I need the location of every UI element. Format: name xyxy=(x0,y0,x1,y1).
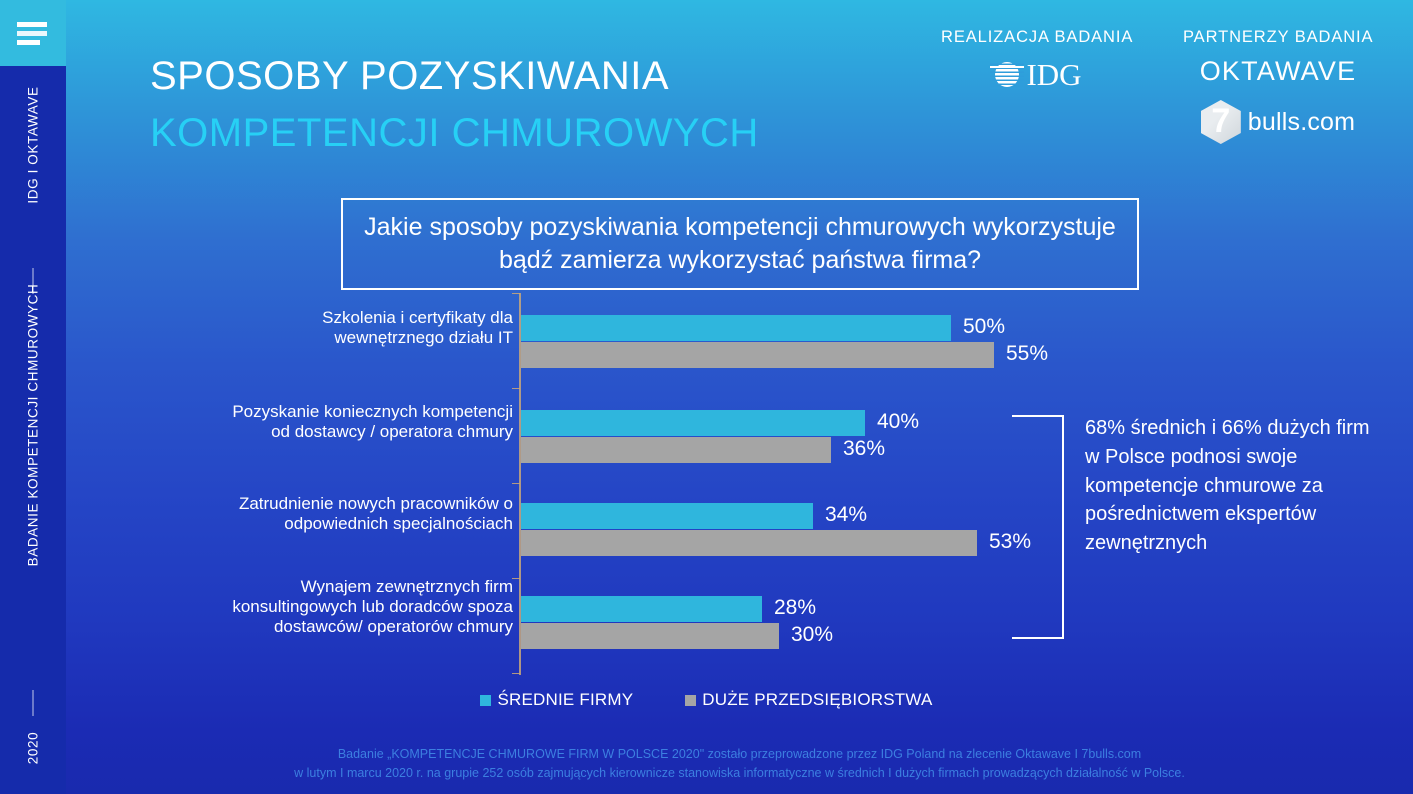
footer-line-2: w lutym I marcu 2020 r. na grupie 252 os… xyxy=(66,764,1413,783)
bar-value-medium-0: 50% xyxy=(963,314,1005,340)
bar-value-large-1: 36% xyxy=(843,436,885,462)
bar-medium-3 xyxy=(521,596,762,622)
realizacja-badania-block: REALIZACJA BADANIA IDG xyxy=(941,28,1131,90)
legend-swatch-medium xyxy=(480,695,491,706)
bar-medium-0 xyxy=(521,315,951,341)
callout-annotation-text: 68% średnich i 66% dużych firm w Polsce … xyxy=(1085,414,1385,558)
realizacja-badania-caption: REALIZACJA BADANIA xyxy=(941,28,1131,47)
bar-value-medium-2: 34% xyxy=(825,502,867,528)
bar-large-1 xyxy=(521,437,831,463)
question-box: Jakie sposoby pozyskiwania kompetencji c… xyxy=(341,198,1139,290)
axis-tick-4 xyxy=(512,673,520,674)
category-label-3: Wynajem zewnętrznych firm konsultingowyc… xyxy=(215,577,513,637)
idg-wordmark: IDG xyxy=(1026,59,1081,90)
page-title: SPOSOBY POZYSKIWANIA KOMPETENCJI CHMUROW… xyxy=(150,55,759,155)
axis-tick-0 xyxy=(512,293,520,294)
bar-large-2 xyxy=(521,530,977,556)
bar-value-large-3: 30% xyxy=(791,622,833,648)
oktawave-logo: OKTAWAVE xyxy=(1183,58,1373,85)
sevenbulls-wordmark: bulls.com xyxy=(1248,108,1355,137)
bar-value-medium-3: 28% xyxy=(774,595,816,621)
category-label-0: Szkolenia i certyfikaty dla wewnętrznego… xyxy=(215,308,513,348)
idg-logo: IDG xyxy=(941,59,1131,90)
page-title-line-1: SPOSOBY POZYSKIWANIA xyxy=(150,55,759,98)
category-labels: Szkolenia i certyfikaty dla wewnętrznego… xyxy=(215,290,513,680)
bar-value-large-0: 55% xyxy=(1006,341,1048,367)
legend-label-large: DUŻE PRZEDSIĘBIORSTWA xyxy=(702,690,932,710)
axis-tick-3 xyxy=(512,578,520,579)
legend-item-large[interactable]: DUŻE PRZEDSIĘBIORSTWA xyxy=(685,690,932,710)
idg-globe-icon xyxy=(990,61,1024,89)
rail-brand-label: IDG I OKTAWAVE xyxy=(26,86,41,203)
page-title-line-2: KOMPETENCJI CHMUROWYCH xyxy=(150,112,759,155)
chart-legend: ŚREDNIE FIRMY DUŻE PRZEDSIĘBIORSTWA xyxy=(0,690,1413,710)
menu-button[interactable] xyxy=(0,0,66,66)
category-label-2: Zatrudnienie nowych pracowników o odpowi… xyxy=(215,494,513,534)
partnerzy-badania-block: PARTNERZY BADANIA OKTAWAVE bulls.com xyxy=(1183,28,1373,144)
axis-tick-1 xyxy=(512,388,520,389)
bar-large-3 xyxy=(521,623,779,649)
bar-large-0 xyxy=(521,342,994,368)
bar-medium-1 xyxy=(521,410,865,436)
hamburger-icon[interactable] xyxy=(17,22,51,45)
rail-year-label: 2020 xyxy=(26,732,41,764)
axis-tick-2 xyxy=(512,483,520,484)
footer-note: Badanie „KOMPETENCJE CHMUROWE FIRM W POL… xyxy=(66,745,1413,783)
legend-swatch-large xyxy=(685,695,696,706)
bar-medium-2 xyxy=(521,503,813,529)
sevenbulls-hex-icon xyxy=(1201,100,1241,144)
callout-bracket xyxy=(1004,415,1064,639)
question-text: Jakie sposoby pozyskiwania kompetencji c… xyxy=(343,211,1137,277)
legend-item-medium[interactable]: ŚREDNIE FIRMY xyxy=(480,690,633,710)
category-label-1: Pozyskanie koniecznych kompetencji od do… xyxy=(215,402,513,442)
slide-canvas: IDG I OKTAWAVE BADANIE KOMPETENCJI CHMUR… xyxy=(0,0,1413,794)
legend-label-medium: ŚREDNIE FIRMY xyxy=(497,690,633,710)
footer-line-1: Badanie „KOMPETENCJE CHMUROWE FIRM W POL… xyxy=(66,745,1413,764)
bar-value-medium-1: 40% xyxy=(877,409,919,435)
partnerzy-badania-caption: PARTNERZY BADANIA xyxy=(1183,28,1373,47)
sevenbulls-logo: bulls.com xyxy=(1183,100,1373,144)
